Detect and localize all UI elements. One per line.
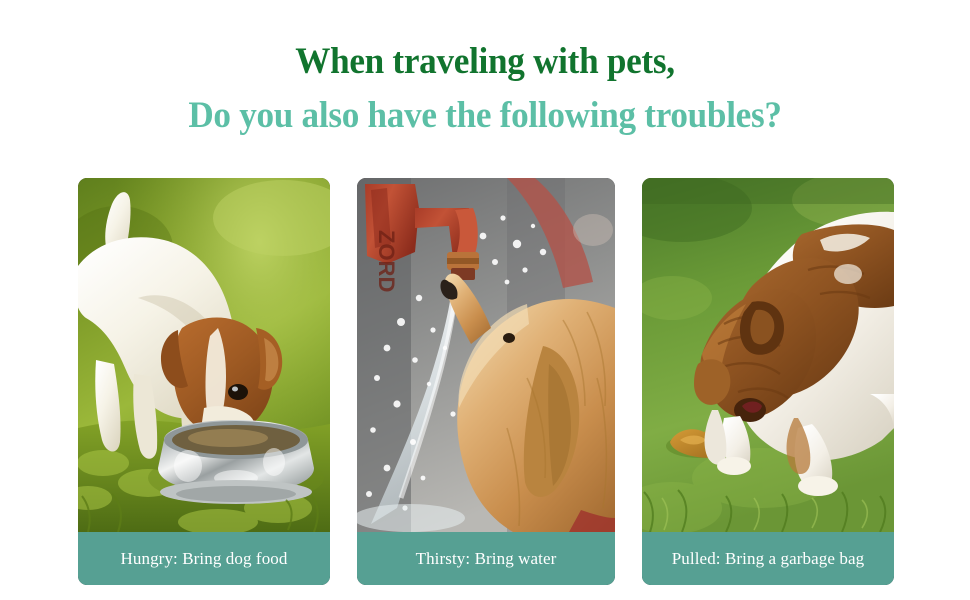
caption-text-hungry: Hungry: Bring dog food — [121, 549, 288, 569]
headline-block: When traveling with pets, Do you also ha… — [0, 40, 970, 140]
caption-bar-hungry: Hungry: Bring dog food — [78, 532, 330, 585]
photo-bulldog-grass — [642, 178, 894, 532]
svg-text:ZORD: ZORD — [374, 230, 399, 292]
card-thirsty[interactable]: ZORD — [357, 178, 615, 585]
caption-text-thirsty: Thirsty: Bring water — [416, 549, 557, 569]
caption-bar-pulled: Pulled: Bring a garbage bag — [642, 532, 894, 585]
card-row: Hungry: Bring dog food — [78, 178, 894, 585]
promo-banner: When traveling with pets, Do you also ha… — [0, 0, 970, 600]
card-pulled[interactable]: Pulled: Bring a garbage bag — [642, 178, 894, 585]
caption-bar-thirsty: Thirsty: Bring water — [357, 532, 615, 585]
card-hungry[interactable]: Hungry: Bring dog food — [78, 178, 330, 585]
caption-text-pulled: Pulled: Bring a garbage bag — [672, 549, 864, 569]
headline-line-2: Do you also have the following troubles? — [24, 92, 946, 140]
headline-line-1: When traveling with pets, — [24, 40, 946, 84]
photo-dog-drinking: ZORD — [357, 178, 615, 532]
photo-puppy-eating — [78, 178, 330, 532]
